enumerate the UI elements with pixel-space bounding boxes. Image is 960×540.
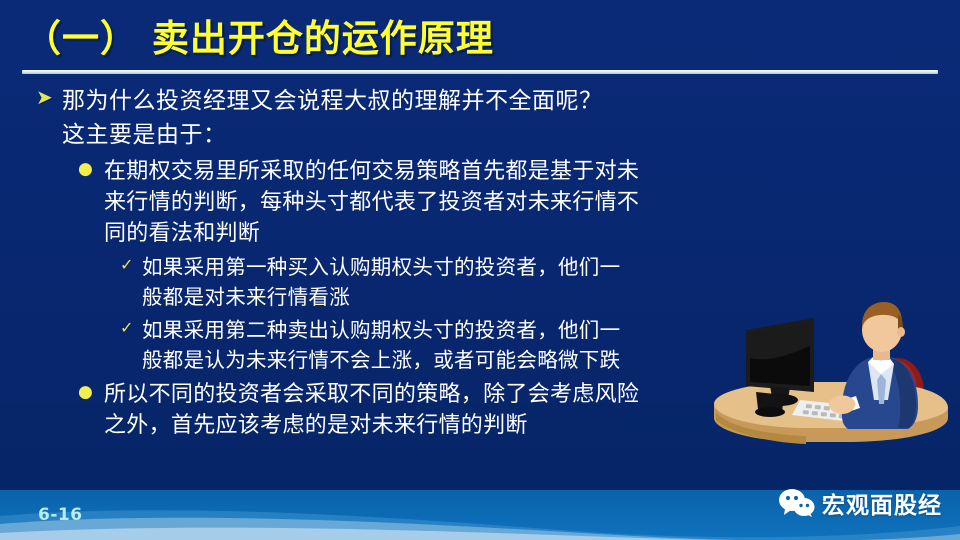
- round-bullet-icon: ●: [78, 384, 104, 401]
- slide-title: （一） 卖出开仓的运作原理: [24, 8, 494, 62]
- bullet-text: 在期权交易里所采取的任何交易策略首先都是基于对未 来行情的判断，每种头寸都代表了…: [104, 156, 639, 249]
- bullet-item-level2: ● 在期权交易里所采取的任何交易策略首先都是基于对未 来行情的判断，每种头寸都代…: [0, 156, 760, 249]
- bullet-text: 所以不同的投资者会采取不同的策略，除了会考虑风险 之外，首先应该考虑的是对未来行…: [104, 379, 639, 441]
- presentation-slide: （一） 卖出开仓的运作原理 ➤ 那为什么投资经理又会说程大叔的理解并不全面呢？ …: [0, 0, 960, 540]
- round-bullet-icon: ●: [78, 161, 104, 178]
- bullet-item-level2: ● 所以不同的投资者会采取不同的策略，除了会考虑风险 之外，首先应该考虑的是对未…: [0, 379, 760, 441]
- bullet-item-level3: ✓ 如果采用第二种卖出认购期权头寸的投资者，他们一 般都是认为未来行情不会上涨，…: [0, 315, 760, 375]
- watermark: 宏观面股经: [778, 486, 942, 520]
- check-bullet-icon: ✓: [120, 257, 142, 273]
- slide-body: ➤ 那为什么投资经理又会说程大叔的理解并不全面呢？ 这主要是由于： ● 在期权交…: [0, 84, 760, 441]
- arrow-bullet-icon: ➤: [36, 87, 62, 107]
- bullet-item-level3: ✓ 如果采用第一种买入认购期权头寸的投资者，他们一 般都是对未来行情看涨: [0, 252, 760, 312]
- businessman-at-computer-illustration: [702, 296, 954, 474]
- page-number: 6-16: [38, 505, 83, 525]
- bullet-text: 如果采用第一种买入认购期权头寸的投资者，他们一 般都是对未来行情看涨: [142, 252, 620, 312]
- watermark-label: 宏观面股经: [822, 486, 942, 520]
- check-bullet-icon: ✓: [120, 320, 142, 336]
- bullet-text: 如果采用第二种卖出认购期权头寸的投资者，他们一 般都是认为未来行情不会上涨，或者…: [142, 315, 620, 375]
- bullet-text: 那为什么投资经理又会说程大叔的理解并不全面呢？ 这主要是由于：: [62, 84, 603, 152]
- bullet-item-level1: ➤ 那为什么投资经理又会说程大叔的理解并不全面呢？ 这主要是由于：: [0, 84, 760, 152]
- title-underline-rule: [22, 70, 938, 74]
- wechat-icon: [778, 488, 816, 518]
